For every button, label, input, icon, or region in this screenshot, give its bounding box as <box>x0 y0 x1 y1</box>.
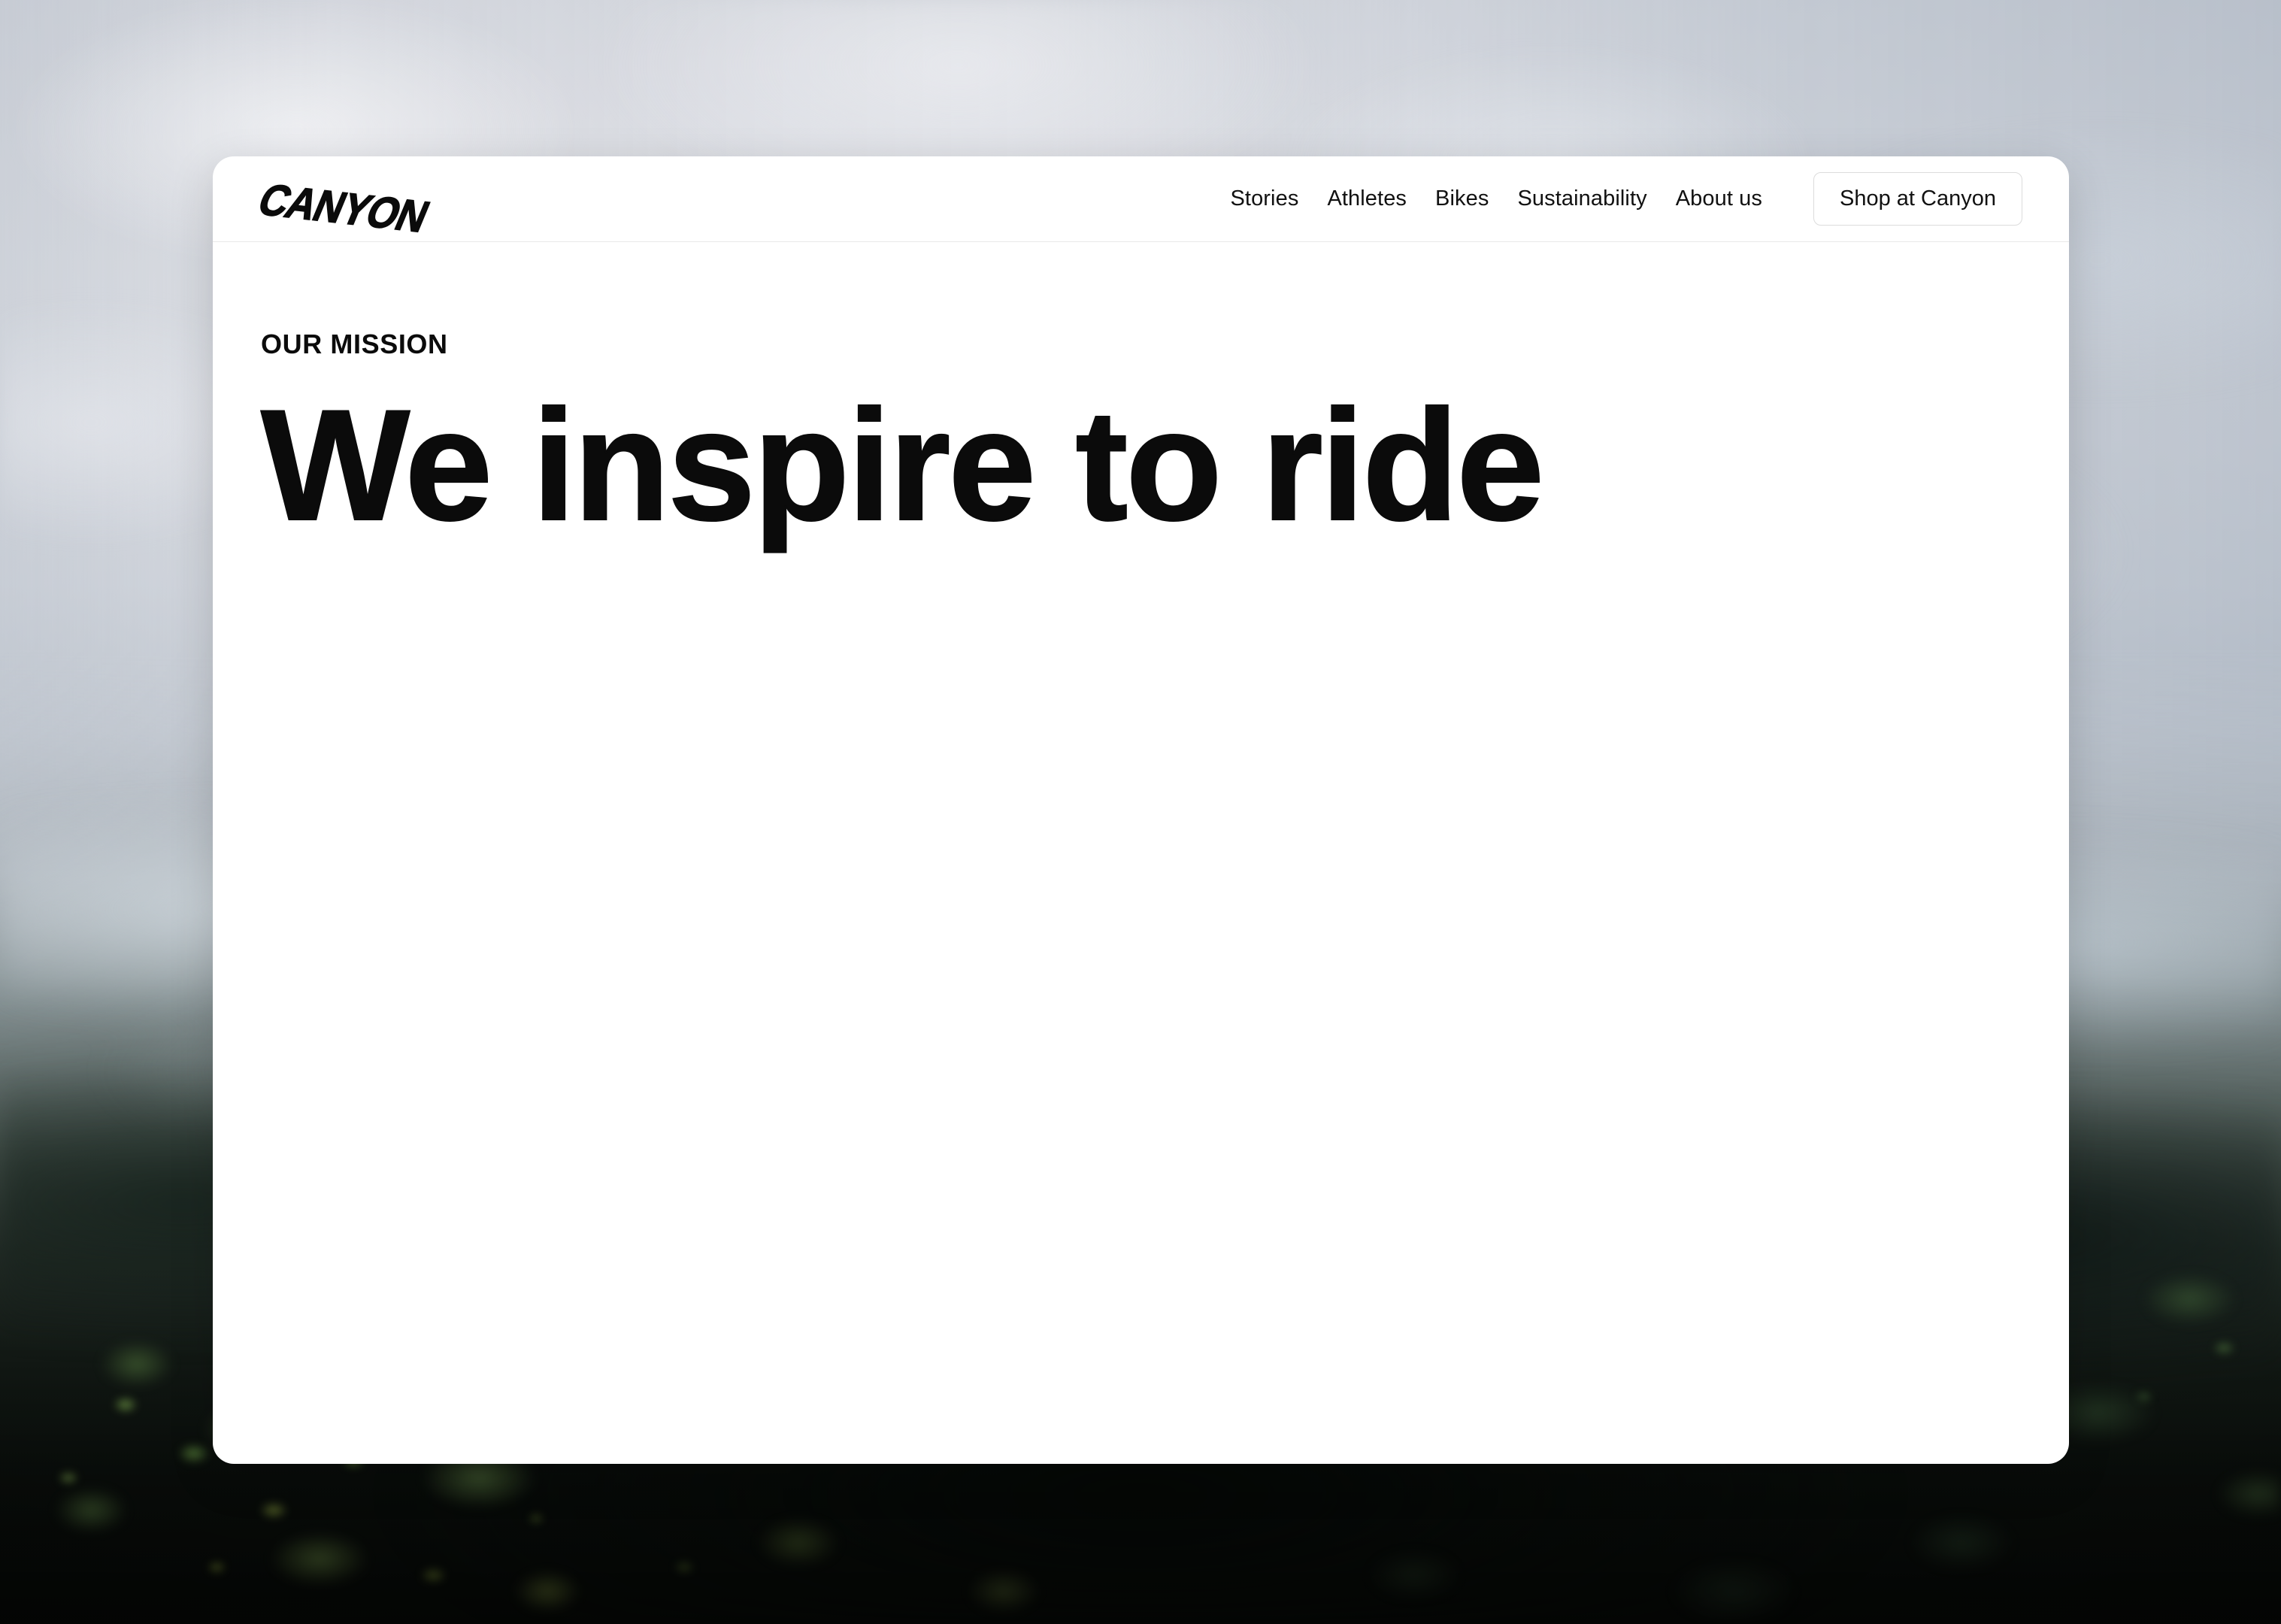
nav-item-about-us[interactable]: About us <box>1676 186 1762 211</box>
nav-item-stories[interactable]: Stories <box>1230 186 1298 211</box>
site-header: CANYON Stories Athletes Bikes Sustainabi… <box>213 156 2069 242</box>
section-eyebrow: OUR MISSION <box>261 331 2022 358</box>
nav-item-sustainability[interactable]: Sustainability <box>1517 186 1646 211</box>
shop-at-canyon-button[interactable]: Shop at Canyon <box>1813 172 2022 226</box>
content-panel: CANYON Stories Athletes Bikes Sustainabi… <box>213 156 2069 1464</box>
canyon-logo[interactable]: CANYON <box>252 177 435 239</box>
hero-headline: We inspire to ride <box>261 391 2022 539</box>
panel-body: OUR MISSION We inspire to ride <box>213 242 2069 539</box>
main-navigation: Stories Athletes Bikes Sustainability Ab… <box>1230 186 1762 211</box>
nav-item-bikes[interactable]: Bikes <box>1435 186 1489 211</box>
nav-item-athletes[interactable]: Athletes <box>1327 186 1407 211</box>
